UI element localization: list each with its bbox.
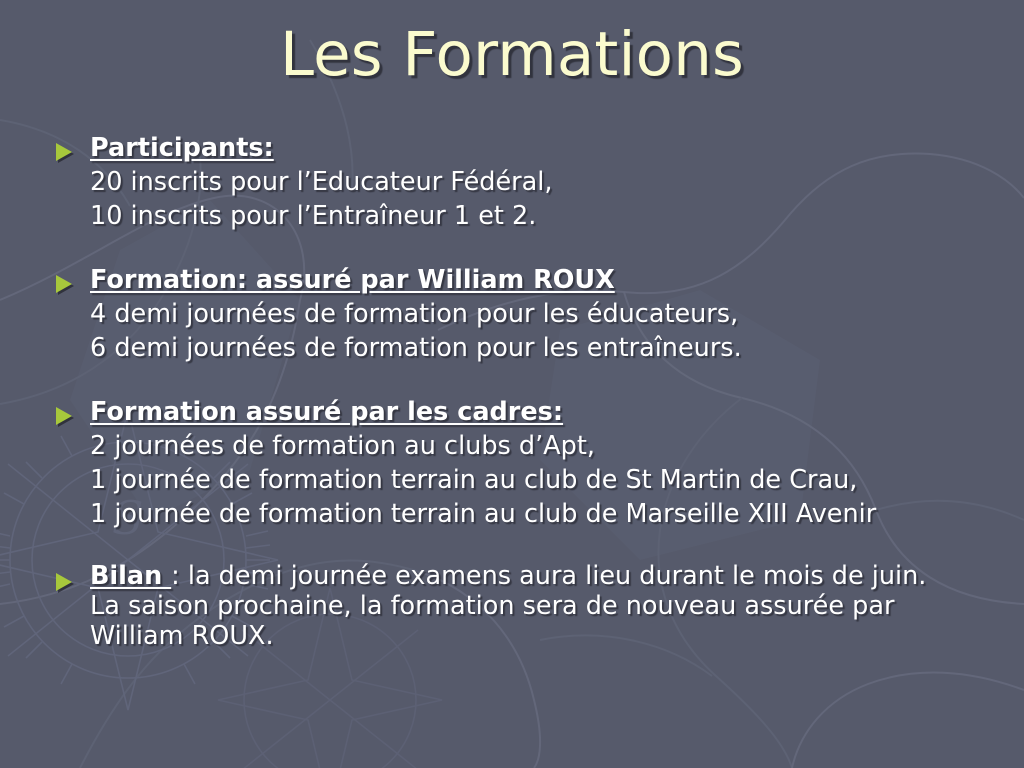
bullet-block-formation-cadres: Formation assuré par les cadres: 2 journ…	[0, 395, 1024, 531]
bullet-line: La saison prochaine, la formation sera d…	[90, 591, 1024, 621]
bullet-line: 4 demi journées de formation pour les éd…	[90, 297, 1024, 331]
slide-body: Participants: 20 inscrits pour l’Educate…	[0, 131, 1024, 651]
bullet-heading-label: Bilan	[90, 561, 171, 591]
triangle-right-icon	[56, 573, 72, 591]
bullet-heading: Participants:	[90, 131, 1024, 165]
bullet-line: 10 inscrits pour l’Entraîneur 1 et 2.	[90, 199, 1024, 233]
bullet-line: 6 demi journées de formation pour les en…	[90, 331, 1024, 365]
triangle-right-icon	[56, 407, 72, 425]
bullet-heading-inline: Bilan : la demi journée examens aura lie…	[90, 561, 1024, 591]
triangle-right-icon	[56, 275, 72, 293]
bullet-line: 1 journée de formation terrain au club d…	[90, 463, 1024, 497]
bullet-heading: Formation assuré par les cadres:	[90, 395, 1024, 429]
triangle-right-icon	[56, 143, 72, 161]
bullet-line: 2 journées de formation au clubs d’Apt,	[90, 429, 1024, 463]
bullet-line: 20 inscrits pour l’Educateur Fédéral,	[90, 165, 1024, 199]
bullet-line: 1 journée de formation terrain au club d…	[90, 497, 1024, 531]
slide-title: Les Formations	[0, 22, 1024, 88]
bullet-block-formation-william-roux: Formation: assuré par William ROUX 4 dem…	[0, 263, 1024, 365]
presentation-slide: S Les Formations Participants: 20 inscri…	[0, 0, 1024, 768]
bullet-block-participants: Participants: 20 inscrits pour l’Educate…	[0, 131, 1024, 233]
bullet-line: William ROUX.	[90, 621, 1024, 651]
bullet-heading-rest: : la demi journée examens aura lieu dura…	[171, 561, 926, 591]
bullet-block-bilan: Bilan : la demi journée examens aura lie…	[0, 561, 1024, 651]
bullet-heading: Formation: assuré par William ROUX	[90, 263, 1024, 297]
